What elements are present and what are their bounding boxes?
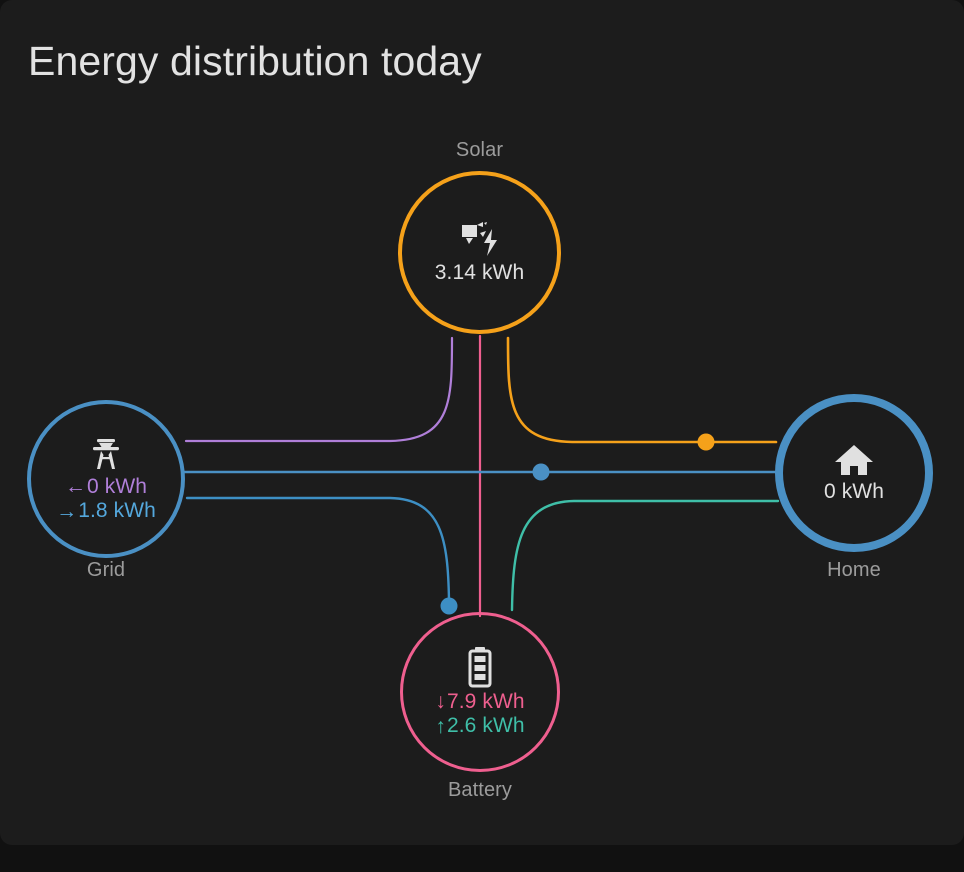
battery-out-arrow-icon: ↑ xyxy=(435,716,446,737)
battery-in-arrow-icon: ↓ xyxy=(435,691,446,712)
transmission-tower-icon xyxy=(87,435,125,473)
flow-grid-to-battery xyxy=(187,498,449,601)
flow-dot-solar-to-home xyxy=(698,434,715,451)
battery-icon xyxy=(464,646,496,688)
node-label-home: Home xyxy=(775,559,933,582)
battery-out-value: 2.6 kWh xyxy=(447,714,525,738)
house-icon xyxy=(833,442,875,478)
node-battery[interactable]: ↓ 7.9 kWh ↑ 2.6 kWh xyxy=(400,612,560,772)
flow-dot-grid-to-battery xyxy=(441,598,458,615)
energy-distribution-card: Energy distribution today xyxy=(0,0,964,845)
solar-value: 3.14 kWh xyxy=(435,261,525,285)
grid-export-arrow-icon: → xyxy=(56,501,77,522)
flow-solar-to-grid xyxy=(186,338,452,441)
node-label-grid: Grid xyxy=(27,559,185,582)
node-label-solar: Solar xyxy=(398,139,561,162)
grid-import-value: 0 kWh xyxy=(87,475,147,499)
node-grid[interactable]: ← 0 kWh → 1.8 kWh xyxy=(27,400,185,558)
battery-in-value: 7.9 kWh xyxy=(447,690,525,714)
grid-import-arrow-icon: ← xyxy=(65,476,86,497)
node-home[interactable]: 0 kWh xyxy=(775,394,933,552)
grid-export-row: → 1.8 kWh xyxy=(56,499,156,523)
battery-in-row: ↓ 7.9 kWh xyxy=(435,690,524,714)
solar-panel-icon xyxy=(458,219,502,259)
flow-solar-to-home xyxy=(508,338,776,442)
flow-dot-grid-to-home xyxy=(533,464,550,481)
flow-battery-to-home xyxy=(512,501,778,610)
grid-import-row: ← 0 kWh xyxy=(65,475,147,499)
grid-export-value: 1.8 kWh xyxy=(78,499,156,523)
home-value: 0 kWh xyxy=(824,480,884,504)
node-solar[interactable]: 3.14 kWh xyxy=(398,171,561,334)
node-label-battery: Battery xyxy=(400,779,560,802)
battery-out-row: ↑ 2.6 kWh xyxy=(435,714,524,738)
